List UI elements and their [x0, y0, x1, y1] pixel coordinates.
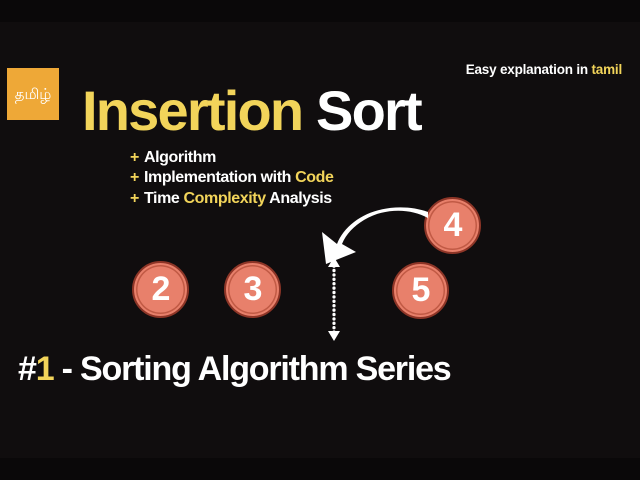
number-circle-2: 2: [132, 261, 189, 318]
list-item: + Implementation with Code: [130, 168, 333, 188]
series-number: 1: [36, 350, 54, 388]
list-item: + Time Complexity Analysis: [130, 189, 333, 209]
list-item-highlight: Complexity: [183, 190, 265, 207]
tagline-prefix: Easy explanation in: [466, 62, 592, 77]
number-circle-3: 3: [224, 261, 281, 318]
list-item-label: Implementation with Code: [144, 168, 334, 188]
page-title: Insertion Sort: [82, 82, 421, 141]
series-hash: #: [18, 350, 36, 388]
series-title-rest: - Sorting Algorithm Series: [53, 350, 450, 388]
tagline: Easy explanation in tamil: [466, 62, 622, 77]
plus-icon: +: [130, 148, 139, 168]
list-item-text: Implementation with: [144, 169, 295, 186]
list-item: + Algorithm: [130, 148, 333, 168]
dotted-double-headed-arrow-icon: [322, 256, 346, 342]
title-space: [302, 79, 316, 142]
list-item-label: Algorithm: [144, 148, 216, 168]
list-item-label: Time Complexity Analysis: [144, 189, 332, 209]
number-circle-4-value: 4: [444, 208, 462, 242]
number-circle-5-value: 5: [412, 273, 430, 307]
list-item-highlight: Code: [295, 169, 333, 186]
plus-icon: +: [130, 168, 139, 188]
title-word-insertion: Insertion: [82, 79, 302, 142]
thumbnail-canvas: தமிழ் Easy explanation in tamil Insertio…: [0, 0, 640, 480]
list-item-text: Time: [144, 190, 184, 207]
number-circle-4: 4: [424, 197, 481, 254]
tagline-highlight: tamil: [591, 62, 622, 77]
tamil-badge-label: தமிழ்: [15, 87, 52, 102]
number-circle-5: 5: [392, 262, 449, 319]
tamil-language-badge: தமிழ்: [7, 68, 59, 120]
number-circle-3-value: 3: [244, 272, 262, 306]
plus-icon: +: [130, 189, 139, 209]
number-circle-2-value: 2: [152, 272, 170, 306]
feature-list: + Algorithm + Implementation with Code +…: [130, 148, 333, 209]
series-title: #1 - Sorting Algorithm Series: [18, 350, 451, 389]
title-word-sort: Sort: [316, 79, 421, 142]
